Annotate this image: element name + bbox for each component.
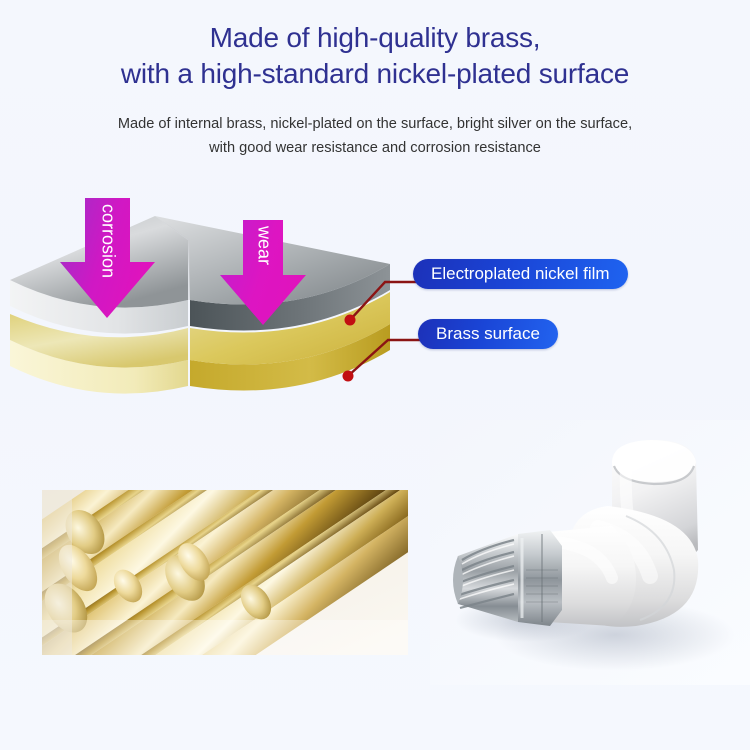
page-subtitle-line2: with good wear resistance and corrosion … xyxy=(0,136,750,160)
page-subtitle-line1: Made of internal brass, nickel-plated on… xyxy=(118,116,632,132)
callout-badge-electroplated-nickel-film[interactable]: Electroplated nickel film xyxy=(413,259,628,289)
leader-dot-nickel xyxy=(345,315,356,326)
infographic-page: Made of high-quality brass, with a high-… xyxy=(0,0,750,750)
callout-badge-brass-surface[interactable]: Brass surface xyxy=(418,319,558,349)
page-subtitle: Made of internal brass, nickel-plated on… xyxy=(0,112,750,160)
callout-badge-brass-label: Brass surface xyxy=(436,324,540,344)
brass-rods-photo xyxy=(42,490,408,655)
page-title-line2: with a high-standard nickel-plated surfa… xyxy=(0,56,750,92)
arrow-wear-label: wear xyxy=(254,225,274,265)
leader-dot-brass xyxy=(343,371,354,382)
layer-structure-diagram: corrosion wear xyxy=(0,180,700,420)
arrow-corrosion-label: corrosion xyxy=(98,204,118,278)
page-title: Made of high-quality brass, with a high-… xyxy=(0,20,750,92)
pneumatic-elbow-fitting-photo xyxy=(430,420,750,685)
page-title-line1: Made of high-quality brass, xyxy=(210,22,541,53)
nickel-layer-shape xyxy=(10,216,390,334)
callout-badge-nickel-label: Electroplated nickel film xyxy=(431,264,610,284)
